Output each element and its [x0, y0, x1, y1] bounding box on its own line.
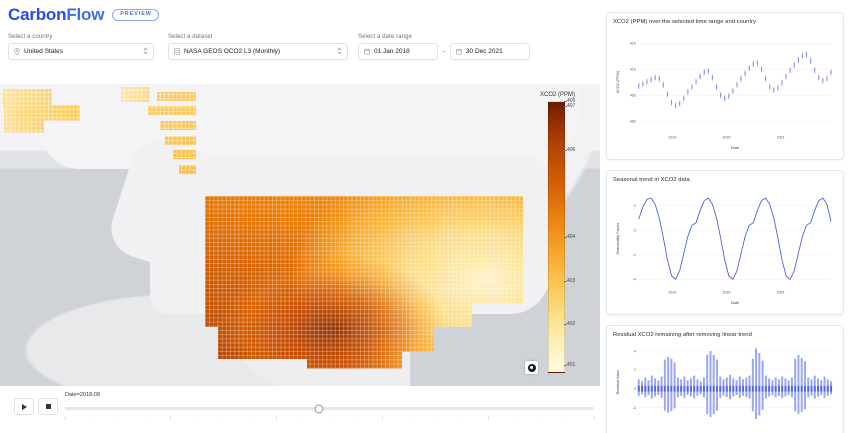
residual-bar — [758, 353, 760, 389]
residual-bar-core — [755, 386, 757, 392]
residual-bar-core — [788, 386, 790, 392]
heat-overlay-conus — [205, 196, 523, 381]
residual-bar-core — [775, 386, 777, 392]
heat-grid-lines — [2, 88, 120, 140]
data-point — [642, 86, 643, 87]
data-point — [794, 67, 795, 68]
country-label: Select a country — [8, 34, 154, 40]
filter-controls: Select a country United States Select a … — [0, 34, 600, 80]
x-axis-label: Date — [731, 300, 739, 305]
x-axis-tick: 2020 — [723, 291, 731, 295]
y-axis-tick: 0 — [634, 387, 636, 391]
slider-tick: | — [64, 415, 65, 420]
x-axis-tick: 2020 — [723, 135, 731, 139]
date-range-label: Select a date range — [358, 34, 533, 40]
residual-bar-core — [781, 386, 783, 392]
carbonflow-app: CarbonFlow PREVIEW Select a country Unit… — [0, 0, 850, 433]
residual-bar — [716, 360, 718, 389]
slider-track[interactable] — [65, 407, 594, 410]
database-icon — [174, 48, 180, 55]
slider-tick: | — [276, 415, 277, 420]
data-point — [773, 92, 774, 93]
residual-bar — [794, 389, 796, 412]
residual-bar — [804, 361, 806, 388]
residual-bar-core — [830, 386, 832, 392]
data-point — [675, 108, 676, 109]
residual-bar — [752, 359, 754, 389]
slider-tick: ' — [118, 415, 119, 420]
data-point — [777, 90, 778, 91]
data-point — [671, 104, 672, 105]
data-point — [741, 81, 742, 82]
location-pin-icon — [14, 48, 20, 55]
slider-tick: | — [488, 415, 489, 420]
slider-tick: ' — [197, 415, 198, 420]
y-axis-tick: 2 — [634, 368, 636, 372]
residual-bar — [797, 389, 799, 414]
panel-title: XCO2 (PPM) over the selected time range … — [613, 19, 837, 25]
colorbar-tick: 405 — [567, 98, 575, 104]
data-point — [728, 98, 729, 99]
residual-bar-core — [801, 386, 803, 392]
colorbar-tick: 401 — [567, 362, 575, 368]
dataset-label: Select a dataset — [168, 34, 348, 40]
country-select[interactable]: United States — [8, 43, 154, 60]
y-axis-tick: 400 — [630, 120, 636, 124]
residual-bar-core — [784, 386, 786, 392]
residual-bar-core — [762, 386, 764, 392]
data-point — [749, 70, 750, 71]
data-point — [696, 84, 697, 85]
residual-bar-core — [667, 386, 669, 392]
residual-bar-core — [654, 386, 656, 392]
chart-xco2-timeseries[interactable]: 415410405400201920202021DateXCO2 (PPM) — [613, 27, 837, 151]
residual-bar-core — [641, 386, 643, 392]
slider-tick: ' — [461, 415, 462, 420]
residual-bar-core — [680, 386, 682, 392]
residual-bar — [797, 355, 799, 389]
residual-bar — [664, 360, 666, 389]
residual-bar-core — [791, 386, 793, 392]
y-axis-tick: 4 — [634, 350, 636, 354]
dataset-select[interactable]: NASA GEOS OCO2 L3 (Monthly) — [168, 43, 348, 60]
data-point — [826, 81, 827, 82]
data-point — [720, 97, 721, 98]
residual-bar — [713, 389, 715, 414]
residual-bar-core — [709, 386, 711, 392]
calendar-icon — [456, 48, 462, 55]
data-point — [822, 83, 823, 84]
slider-date-label: Date=2018-08 — [65, 392, 594, 398]
chevron-updown-icon[interactable] — [143, 47, 148, 57]
colorbar-tick: 402 — [567, 321, 575, 327]
residual-bar-core — [752, 386, 754, 392]
residual-bar-core — [674, 386, 676, 392]
data-point — [765, 81, 766, 82]
residual-bar — [674, 362, 676, 388]
residual-bar — [762, 361, 764, 389]
residual-bar — [755, 389, 757, 419]
residual-bar-core — [690, 386, 692, 392]
data-point — [798, 62, 799, 63]
data-point — [655, 79, 656, 80]
heat-grid-lines — [118, 90, 196, 190]
slider-tick: | — [593, 415, 594, 420]
residual-bar-core — [726, 386, 728, 392]
residual-bar-core — [745, 386, 747, 392]
residual-bar-core — [811, 386, 813, 392]
residual-bar — [667, 389, 669, 413]
residual-bar-core — [719, 386, 721, 392]
preview-badge: PREVIEW — [112, 9, 159, 21]
residual-bar-core — [827, 386, 829, 392]
data-point — [818, 79, 819, 80]
y-axis-tick: 415 — [630, 42, 636, 46]
line-series — [639, 198, 831, 279]
data-point — [700, 78, 701, 79]
data-point — [650, 82, 651, 83]
y-axis-tick: -4 — [633, 278, 636, 282]
residual-bar — [801, 389, 803, 412]
residual-bar — [664, 389, 666, 411]
map-colorbar: XCO2 (PPM) 407 406 405 404 403 402 401 — [540, 92, 598, 382]
stop-button[interactable] — [38, 398, 58, 415]
data-point — [716, 89, 717, 90]
x-axis-tick: 2019 — [668, 291, 676, 295]
residual-bar-core — [700, 386, 702, 392]
residual-bar-core — [687, 386, 689, 392]
residual-bar-core — [729, 386, 731, 392]
data-point — [638, 88, 639, 89]
residual-bar-core — [670, 386, 672, 392]
dataset-value: NASA GEOS OCO2 L3 (Monthly) — [184, 48, 337, 55]
slider-tick: ' — [408, 415, 409, 420]
x-axis-tick: 2021 — [777, 291, 785, 295]
residual-bar-core — [651, 386, 653, 392]
slider-tick: ' — [356, 415, 357, 420]
residual-bar — [667, 357, 669, 389]
residual-bar — [758, 389, 760, 416]
calendar-icon — [364, 48, 370, 55]
residual-bar-core — [664, 386, 666, 392]
time-slider[interactable]: Date=2018-08 |'''|'''|'''|'''|'''| — [65, 392, 594, 432]
app-logo[interactable]: CarbonFlow — [8, 5, 104, 25]
residual-bar — [674, 389, 676, 409]
heat-grid-lines — [205, 196, 523, 381]
data-point — [745, 75, 746, 76]
residual-bar-core — [648, 386, 650, 392]
date-range-field: Select a date range 01 Jan 2018 – 30 Dec… — [358, 34, 533, 60]
residual-bar-core — [703, 386, 705, 392]
data-point — [831, 74, 832, 75]
residual-bar-core — [768, 386, 770, 392]
y-axis-tick: 410 — [630, 68, 636, 72]
residual-bar-core — [797, 386, 799, 392]
panel-residual-xco2: Residual XCO2 remaining after removing l… — [606, 325, 844, 433]
residual-bar-core — [693, 386, 695, 392]
data-point — [683, 100, 684, 101]
end-date-input[interactable]: 30 Dec 2021 — [450, 43, 530, 60]
data-point — [667, 96, 668, 97]
slider-tick: | — [382, 415, 383, 420]
timeline-controls: Date=2018-08 |'''|'''|'''|'''|'''| — [0, 390, 600, 433]
data-point — [757, 65, 758, 66]
chart-seasonal-trend[interactable]: 20-2-4201920202021DateSeasonality Factor — [613, 185, 837, 306]
y-axis-tick: -2 — [633, 253, 636, 257]
colorbar-tick: 406 — [567, 147, 575, 153]
data-point — [732, 93, 733, 94]
residual-bar-core — [736, 386, 738, 392]
panel-title: Residual XCO2 remaining after removing l… — [613, 332, 837, 338]
residual-bar — [709, 389, 711, 417]
slider-handle[interactable] — [314, 404, 323, 413]
x-axis-label: Date — [731, 145, 739, 150]
slider-tick: ' — [329, 415, 330, 420]
map-attribution-icon[interactable] — [525, 361, 538, 374]
data-point — [704, 74, 705, 75]
data-point — [806, 57, 807, 58]
play-icon — [22, 404, 27, 410]
slider-tick: ' — [223, 415, 224, 420]
data-point — [810, 63, 811, 64]
logo-flow: Flow — [66, 5, 104, 24]
country-field: Select a country United States — [8, 34, 154, 60]
residual-bar — [709, 351, 711, 389]
residual-bar-core — [804, 386, 806, 392]
data-point — [708, 73, 709, 74]
xco2-map[interactable] — [0, 84, 600, 386]
residual-bar-core — [820, 386, 822, 392]
colorbar-tick: 404 — [567, 234, 575, 240]
date-range-row: 01 Jan 2018 – 30 Dec 2021 — [358, 43, 533, 60]
data-point — [736, 87, 737, 88]
residual-bar — [804, 389, 806, 409]
residual-bar-core — [696, 386, 698, 392]
residual-bar — [794, 359, 796, 389]
chart-residual-xco2[interactable]: 420-2Residual Value — [613, 340, 837, 428]
residual-bar-core — [661, 386, 663, 392]
app-header: CarbonFlow PREVIEW — [0, 0, 600, 30]
data-point — [769, 89, 770, 90]
residual-bar-core — [706, 386, 708, 392]
residual-bar — [762, 389, 764, 410]
stop-icon — [46, 404, 51, 409]
data-point — [659, 81, 660, 82]
residual-bar-core — [817, 386, 819, 392]
residual-bar-core — [657, 386, 659, 392]
data-point — [679, 105, 680, 106]
slider-tick: ' — [541, 415, 542, 420]
colorbar-tick: 407 — [567, 103, 575, 109]
panel-xco2-timeseries: XCO2 (PPM) over the selected time range … — [606, 12, 844, 160]
residual-bar-core — [732, 386, 734, 392]
chevron-updown-icon[interactable] — [337, 47, 342, 57]
y-axis-label: XCO2 (PPM) — [615, 70, 620, 93]
residual-bar-core — [716, 386, 718, 392]
data-point — [712, 79, 713, 80]
slider-tick: ' — [91, 415, 92, 420]
residual-bar-core — [713, 386, 715, 392]
heat-overlay-northeast — [118, 90, 196, 190]
slider-tick: ' — [144, 415, 145, 420]
residual-bar-core — [742, 386, 744, 392]
residual-bar-core — [723, 386, 725, 392]
data-point — [802, 58, 803, 59]
residual-bar-core — [638, 386, 640, 392]
y-axis-label: Residual Value — [616, 370, 620, 394]
data-point — [753, 66, 754, 67]
data-point — [687, 94, 688, 95]
data-point — [790, 72, 791, 73]
slider-tick: ' — [567, 415, 568, 420]
residual-bar — [706, 355, 708, 389]
x-axis-tick: 2019 — [668, 135, 676, 139]
data-point — [781, 85, 782, 86]
residual-bar-core — [758, 386, 760, 392]
slider-tick: ' — [435, 415, 436, 420]
residual-bar-core — [807, 386, 809, 392]
data-point — [761, 71, 762, 72]
end-date-value: 30 Dec 2021 — [466, 48, 524, 55]
residual-bar-core — [814, 386, 816, 392]
residual-bar-core — [824, 386, 826, 392]
slider-tick-marks: |'''|'''|'''|'''|'''| — [65, 415, 594, 423]
colorbar-gradient — [548, 101, 565, 373]
colorbar-tick: 403 — [567, 278, 575, 284]
start-date-value: 01 Jan 2018 — [374, 48, 432, 55]
data-point — [646, 84, 647, 85]
play-button[interactable] — [14, 398, 34, 415]
residual-bar — [755, 348, 757, 388]
colorbar-body: 407 406 405 404 403 402 401 — [540, 101, 598, 373]
y-axis-tick: 0 — [634, 229, 636, 233]
y-axis-tick: -2 — [633, 406, 636, 410]
start-date-input[interactable]: 01 Jan 2018 — [358, 43, 438, 60]
heat-overlay-alaska — [2, 88, 120, 140]
residual-bar — [801, 358, 803, 389]
slider-tick: ' — [514, 415, 515, 420]
slider-tick: ' — [303, 415, 304, 420]
panel-title: Seasonal trend in XCO2 data — [613, 177, 837, 183]
residual-bar-core — [739, 386, 741, 392]
y-axis-label: Seasonality Factor — [615, 222, 620, 254]
residual-bar-core — [765, 386, 767, 392]
x-axis-tick: 2021 — [777, 135, 785, 139]
residual-bar-core — [644, 386, 646, 392]
data-point — [663, 87, 664, 88]
panel-seasonal-trend: Seasonal trend in XCO2 data 20-2-4201920… — [606, 170, 844, 315]
residual-bar — [670, 359, 672, 389]
data-point — [691, 89, 692, 90]
date-range-separator: – — [442, 48, 446, 55]
data-point — [814, 72, 815, 73]
residual-bar — [716, 389, 718, 411]
residual-bar-core — [677, 386, 679, 392]
logo-carbon: Carbon — [8, 5, 66, 24]
residual-bar-core — [771, 386, 773, 392]
residual-bar — [713, 355, 715, 389]
residual-bar — [670, 389, 672, 412]
dataset-field: Select a dataset NASA GEOS OCO2 L3 (Mont… — [168, 34, 348, 60]
y-axis-tick: 405 — [630, 94, 636, 98]
residual-bar-core — [794, 386, 796, 392]
analysis-panels: XCO2 (PPM) over the selected time range … — [606, 6, 846, 433]
residual-bar — [706, 389, 708, 414]
residual-bar — [752, 389, 754, 412]
data-point — [724, 100, 725, 101]
residual-bar-core — [778, 386, 780, 392]
slider-tick: ' — [250, 415, 251, 420]
residual-bar-core — [683, 386, 685, 392]
country-value: United States — [24, 48, 143, 55]
data-point — [786, 78, 787, 79]
residual-bar-core — [749, 386, 751, 392]
y-axis-tick: 2 — [634, 204, 636, 208]
slider-tick: | — [170, 415, 171, 420]
